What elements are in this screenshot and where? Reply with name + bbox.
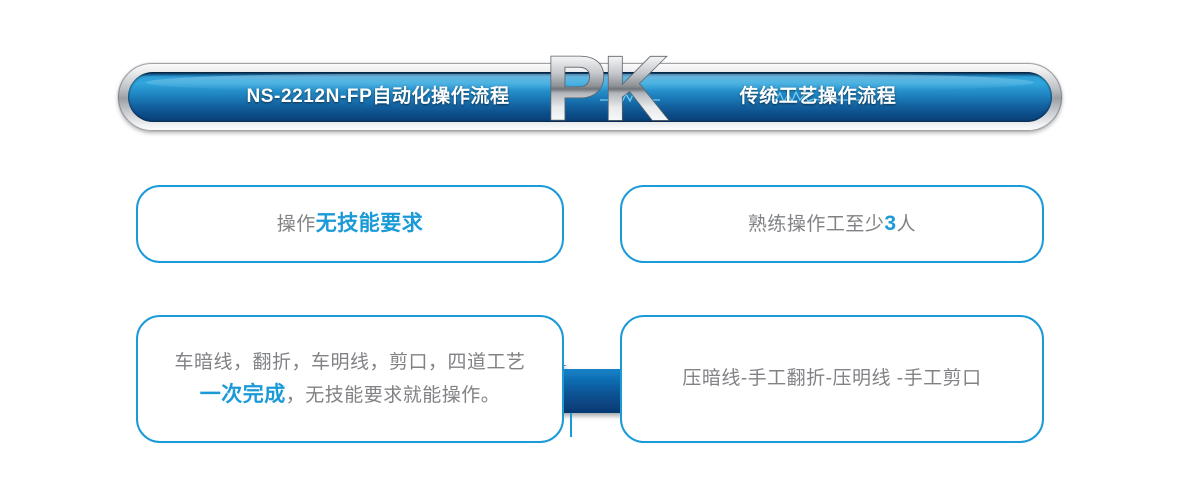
row2-right-text: 压暗线-手工翻折-压明线 -手工剪口 — [682, 363, 981, 395]
row2-right-line1: 压暗线-手工翻折-压明线 -手工剪口 — [682, 363, 981, 395]
row2-left-pill: 车暗线，翻折，车明线，剪口，四道工艺 一次完成，无技能要求就能操作。 — [136, 315, 564, 443]
row1-left-text: 操作无技能要求 — [277, 208, 424, 241]
banner-left-title: NS-2212N-FP自动化操作流程 — [158, 72, 598, 122]
banner-right-title: 传统工艺操作流程 — [608, 72, 1028, 122]
row1-left-pill: 操作无技能要求 — [136, 185, 564, 263]
comparison-row-2: 车暗线，翻折，车明线，剪口，四道工艺 一次完成，无技能要求就能操作。 压暗线-手… — [0, 315, 1180, 445]
title-banner-inner: NS-2212N-FP自动化操作流程 传统工艺操作流程 — [128, 72, 1052, 122]
row2-left-line2-highlight: 一次完成 — [200, 383, 286, 406]
row1-left-highlight: 无技能要求 — [316, 212, 424, 235]
row1-right-pill: 熟练操作工至少3人 — [620, 185, 1044, 263]
comparison-row-1: 操作无技能要求 熟练操作工至少3人 — [0, 185, 1180, 265]
row1-right-prefix: 熟练操作工至少 — [748, 214, 885, 235]
row2-left-line2-rest: ，无技能要求就能操作。 — [286, 385, 501, 406]
row2-left-line1: 车暗线，翻折，车明线，剪口，四道工艺 — [174, 347, 525, 379]
row2-left-line2: 一次完成，无技能要求就能操作。 — [174, 379, 525, 412]
row1-right-suffix: 人 — [897, 214, 917, 235]
row1-right-highlight: 3 — [884, 212, 896, 235]
title-banner: NS-2212N-FP自动化操作流程 传统工艺操作流程 — [118, 63, 1062, 131]
row1-right-text: 熟练操作工至少3人 — [748, 208, 916, 241]
row1-left-prefix: 操作 — [277, 214, 316, 235]
row2-right-pill: 压暗线-手工翻折-压明线 -手工剪口 — [620, 315, 1044, 443]
row2-left-text: 车暗线，翻折，车明线，剪口，四道工艺 一次完成，无技能要求就能操作。 — [174, 347, 525, 412]
pk-comparison-infographic: NS-2212N-FP自动化操作流程 传统工艺操作流程 PK — [0, 0, 1180, 500]
